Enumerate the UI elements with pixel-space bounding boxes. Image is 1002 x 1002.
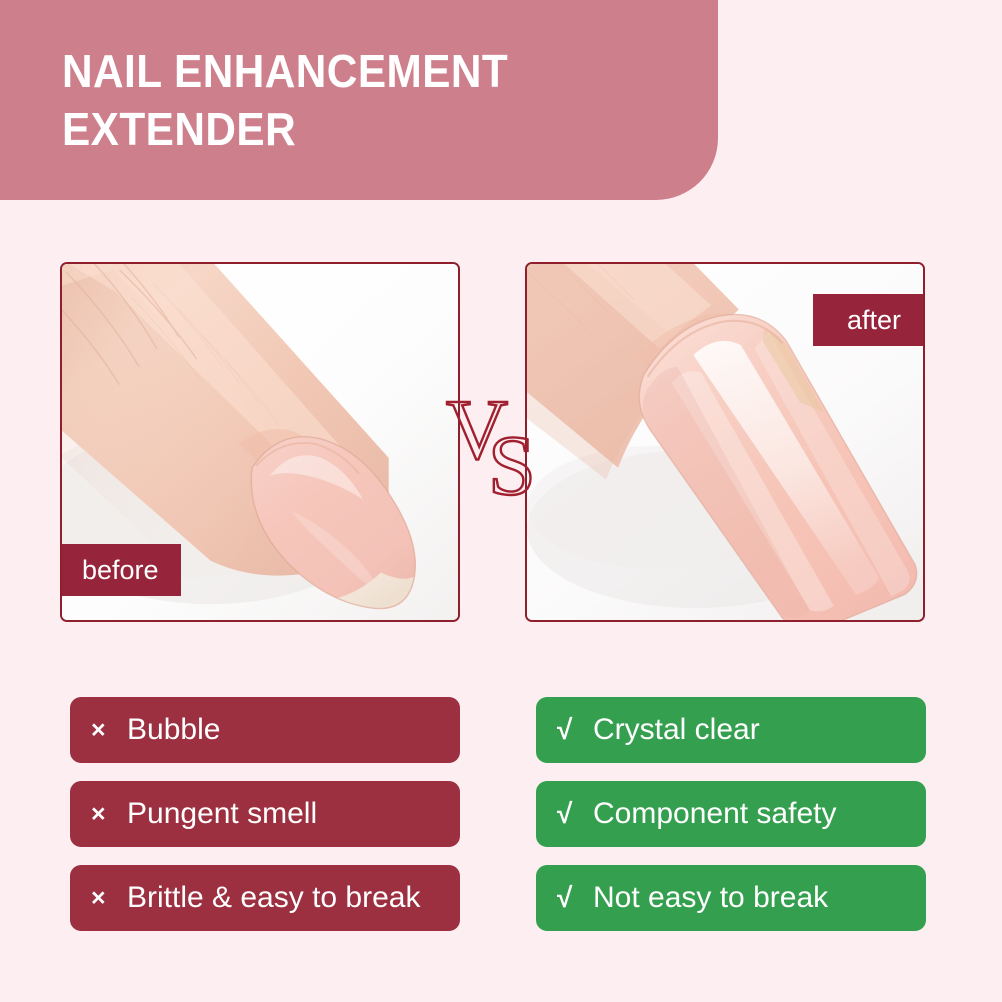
feature-bar-bubble[interactable]: × Bubble [70, 697, 460, 763]
feature-label: Brittle & easy to break [127, 883, 420, 913]
feature-label: Not easy to break [593, 883, 828, 913]
infographic-page: NAIL ENHANCEMENT EXTENDER [0, 0, 1002, 1002]
feature-bar-pungent-smell[interactable]: × Pungent smell [70, 781, 460, 847]
after-photo-panel: after [525, 262, 925, 622]
check-icon: √ [557, 884, 585, 912]
before-tag: before [62, 544, 181, 596]
feature-label: Crystal clear [593, 715, 760, 745]
before-photo-panel: before [60, 262, 460, 622]
feature-label: Component safety [593, 799, 836, 829]
after-tag-label: after [847, 305, 901, 336]
feature-bar-not-easy-to-break[interactable]: √ Not easy to break [536, 865, 926, 931]
cross-icon: × [91, 886, 119, 911]
before-tag-label: before [82, 555, 159, 586]
feature-label: Bubble [127, 715, 220, 745]
positive-feature-list: √ Crystal clear √ Component safety √ Not… [536, 697, 926, 931]
cross-icon: × [91, 718, 119, 743]
feature-bar-brittle[interactable]: × Brittle & easy to break [70, 865, 460, 931]
negative-feature-list: × Bubble × Pungent smell × Brittle & eas… [70, 697, 460, 931]
check-icon: √ [557, 800, 585, 828]
feature-bar-component-safety[interactable]: √ Component safety [536, 781, 926, 847]
feature-bar-crystal-clear[interactable]: √ Crystal clear [536, 697, 926, 763]
page-title: NAIL ENHANCEMENT EXTENDER [62, 42, 642, 158]
cross-icon: × [91, 802, 119, 827]
feature-label: Pungent smell [127, 799, 317, 829]
check-icon: √ [557, 716, 585, 744]
header-banner: NAIL ENHANCEMENT EXTENDER [0, 0, 718, 200]
after-tag: after [813, 294, 923, 346]
